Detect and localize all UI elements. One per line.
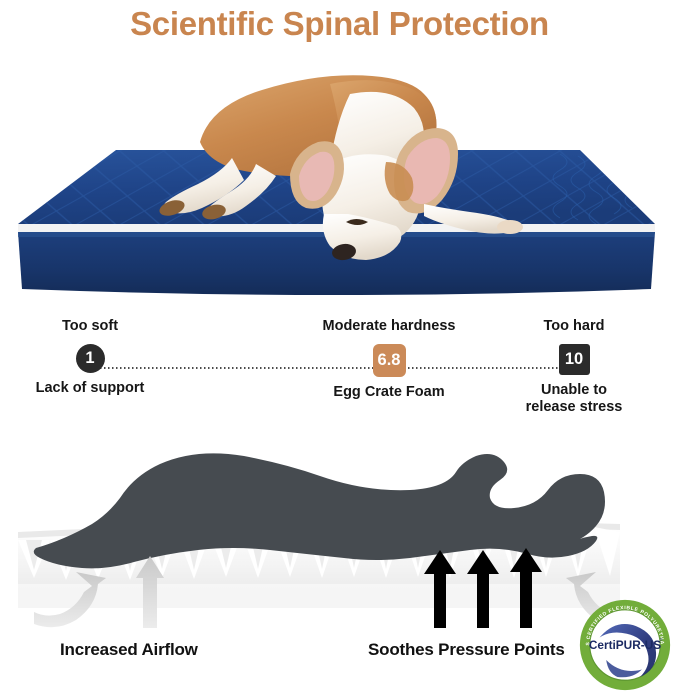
caption-soothes-pressure-points: Soothes Pressure Points [368, 640, 565, 660]
scale-stop-too-hard: Too hard 10 Unable to release stress [474, 310, 674, 416]
scale-stop-bottom-label: Unable to release stress [526, 382, 623, 416]
pressure-arrows [424, 548, 542, 628]
dog-paw [497, 220, 523, 234]
scale-stop-top-label: Moderate hardness [323, 310, 456, 344]
hardness-scale: Too soft 1 Lack of support Moderate hard… [0, 310, 679, 422]
certipur-us-seal: CONTAINS CERTIFIED FLEXIBLE POLYURETHANE… [578, 598, 672, 692]
hero-product-photo [0, 46, 679, 302]
caption-increased-airflow: Increased Airflow [60, 640, 198, 660]
scale-stop-bottom-label: Lack of support [36, 380, 145, 397]
dog-on-bed-illustration [0, 46, 679, 302]
scale-stop-top-label: Too hard [544, 310, 605, 344]
seal-registered-mark: ® [660, 638, 663, 642]
sleeping-dog-silhouette [34, 453, 605, 568]
scale-stop-bottom-label: Egg Crate Foam [333, 384, 444, 401]
certipur-us-seal-icon: CONTAINS CERTIFIED FLEXIBLE POLYURETHANE… [578, 598, 672, 692]
scale-badge-10: 10 [559, 344, 590, 375]
title-bar: Scientific Spinal Protection [0, 0, 679, 48]
seal-center-text: CertiPUR-US [589, 638, 661, 652]
scale-badge-68: 6.8 [373, 344, 406, 377]
scale-badge-1: 1 [76, 344, 105, 373]
scale-stop-top-label: Too soft [62, 310, 118, 344]
page-title: Scientific Spinal Protection [130, 5, 549, 43]
scale-stop-too-soft: Too soft 1 Lack of support [0, 310, 190, 397]
scale-stop-moderate: Moderate hardness 6.8 Egg Crate Foam [289, 310, 489, 401]
